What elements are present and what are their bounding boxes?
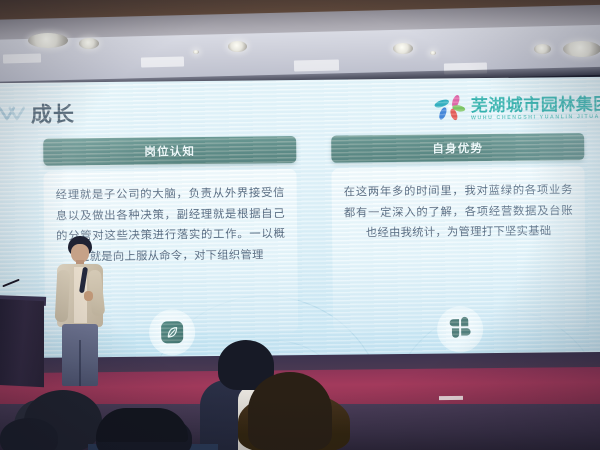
flower-logo-icon	[434, 94, 466, 124]
brand-text-block: 芜湖城市园林集团 WUHU CHENGSHI YUANLIN JITUAN	[471, 96, 600, 122]
brand-name-cn: 芜湖城市园林集团	[471, 96, 600, 114]
ceiling-downlight	[193, 50, 199, 54]
ceiling-downlight	[28, 33, 68, 48]
ceiling-downlight	[563, 41, 600, 57]
card-heading-text: 岗位认知	[144, 143, 195, 160]
card-icon-badge	[436, 306, 482, 352]
card-icon-badge	[148, 309, 194, 355]
card-heading-text: 自身优势	[432, 140, 483, 157]
slide-section-heading: 成长	[0, 98, 75, 129]
card-header: 岗位认知	[43, 136, 296, 166]
presenter-hand	[84, 291, 93, 301]
presenter-leg-split	[79, 340, 81, 386]
audience-head	[0, 418, 58, 450]
conference-photo: 成长 芜湖城市园林集团 WUHU CHENGSHI YUANLIN JITUAN	[0, 0, 600, 450]
double-chevron-icon	[0, 104, 25, 124]
stage-marker	[439, 396, 463, 400]
ceiling-downlight	[79, 38, 99, 49]
ceiling-downlight	[228, 41, 247, 52]
leaf-icon	[161, 321, 183, 343]
ceiling-downlight	[393, 43, 413, 54]
slide-card: 自身优势 在这两年多的时间里，我对蓝绿的各项业务都有一定深入的了解，各项经营数据…	[331, 133, 586, 332]
audience-cap	[96, 408, 188, 442]
ceiling-light-panel	[294, 59, 339, 71]
presenter	[48, 236, 112, 386]
ceiling-light-panel	[3, 54, 41, 64]
ceiling-downlight	[430, 51, 436, 55]
ceiling-light-panel	[141, 56, 184, 67]
section-title: 成长	[31, 98, 75, 128]
ceiling-downlight	[534, 44, 551, 54]
four-petal-clover-icon	[447, 315, 471, 344]
card-header: 自身优势	[331, 133, 584, 163]
lectern	[0, 299, 44, 388]
card-body: 在这两年多的时间里，我对蓝绿的各项业务都有一定深入的了解，各项经营数据及台账也经…	[331, 166, 586, 332]
card-body-text: 在这两年多的时间里，我对蓝绿的各项业务都有一定深入的了解，各项经营数据及台账也经…	[344, 180, 574, 244]
audience-head	[248, 372, 332, 450]
presenter-left-arm	[55, 270, 71, 323]
brand-logo: 芜湖城市园林集团 WUHU CHENGSHI YUANLIN JITUAN	[434, 93, 600, 125]
brand-name-pinyin: WUHU CHENGSHI YUANLIN JITUAN	[471, 115, 600, 122]
